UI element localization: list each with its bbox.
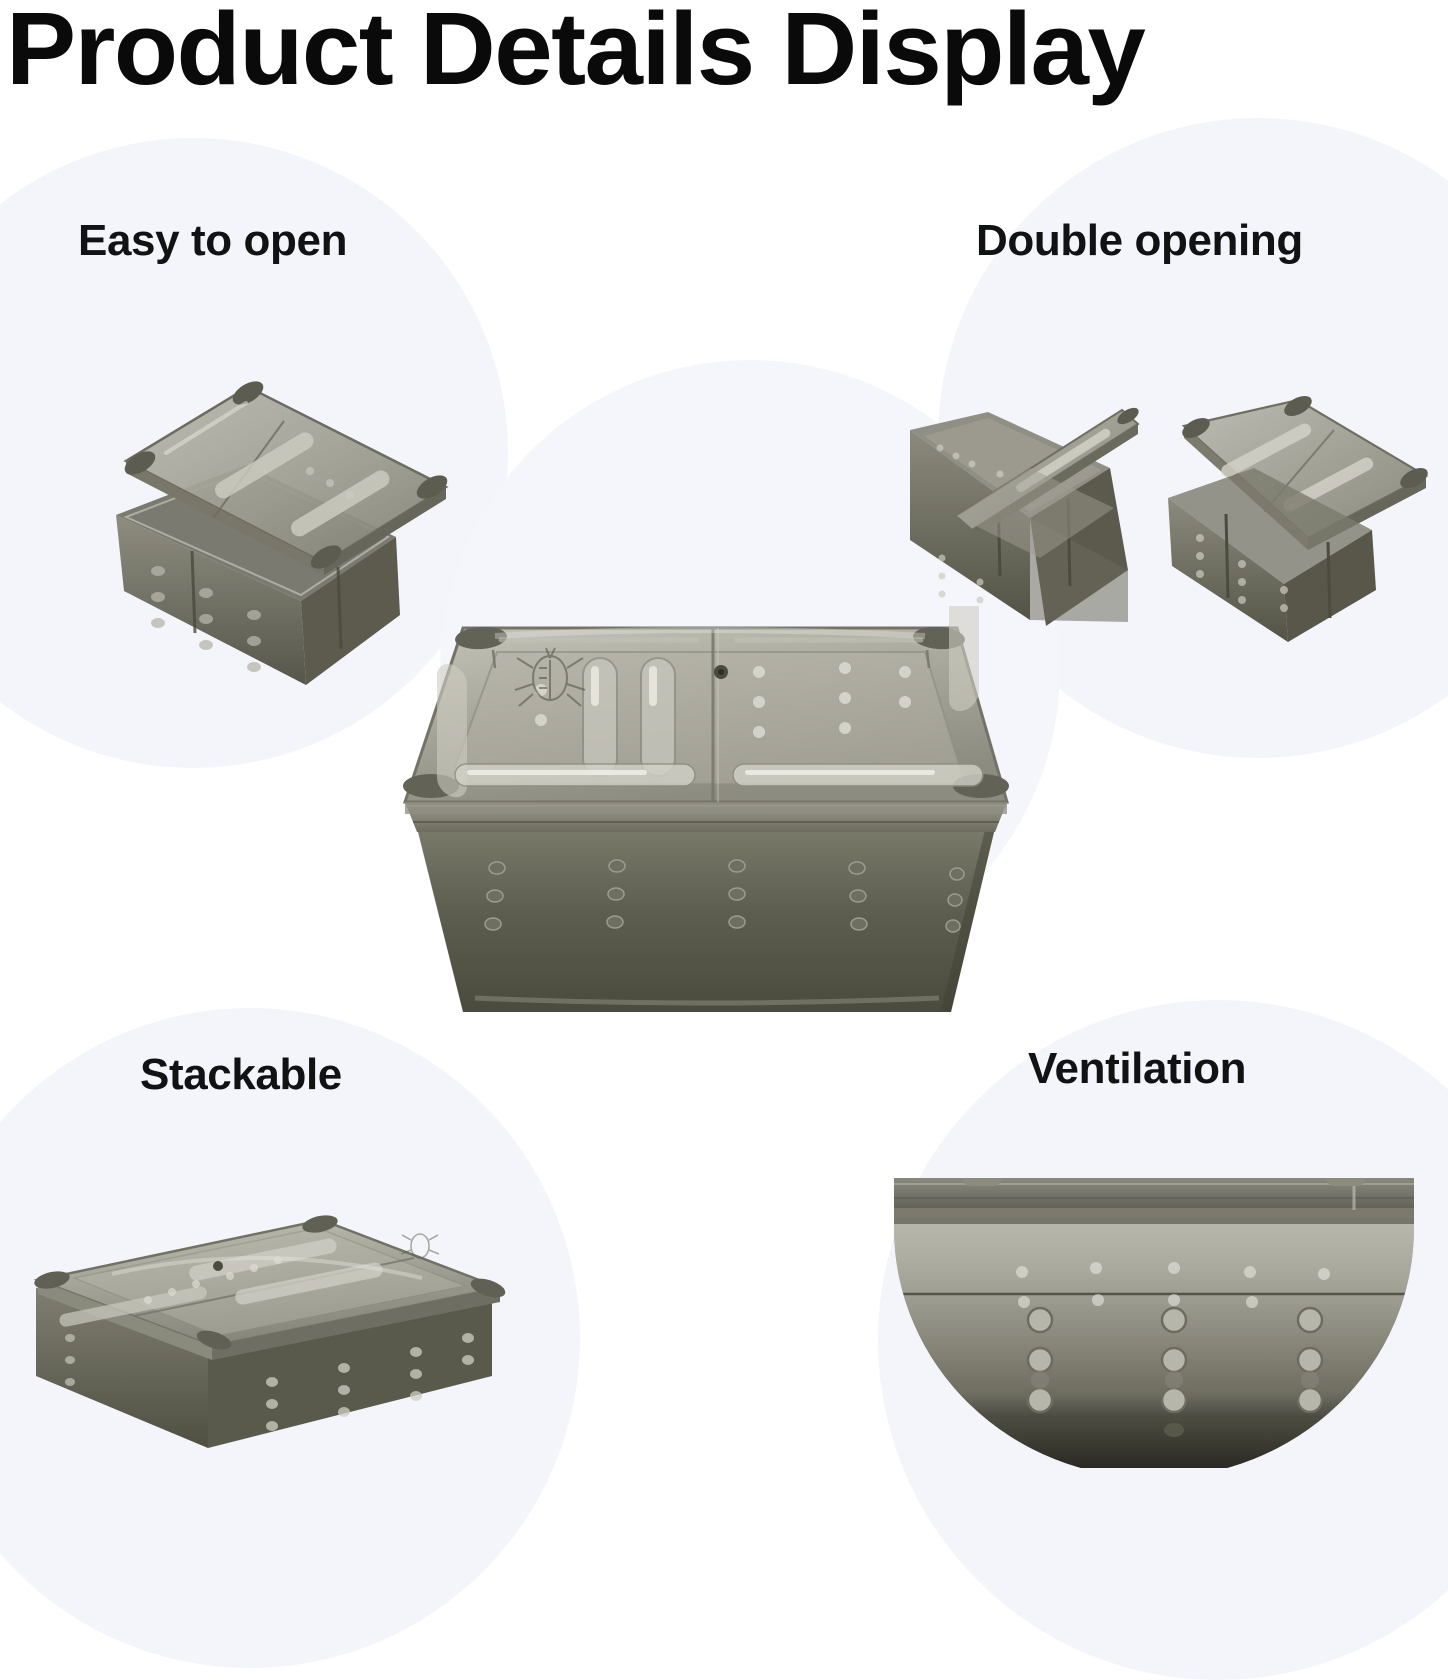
feature-art-stackable <box>22 1180 552 1480</box>
feature-art-ventilation <box>874 1168 1434 1468</box>
feature-panel-stackable: Stackable <box>0 1030 660 1467</box>
feature-label-double-opening: Double opening <box>976 216 1303 266</box>
feature-label-easy-to-open: Easy to open <box>78 216 347 266</box>
feature-label-ventilation: Ventilation <box>1028 1044 1246 1094</box>
hero-product-image <box>345 606 1070 1036</box>
feature-panel-ventilation: Ventilation <box>880 1020 1448 1467</box>
feature-label-stackable: Stackable <box>140 1050 342 1100</box>
page-title: Product Details Display <box>6 0 1448 104</box>
